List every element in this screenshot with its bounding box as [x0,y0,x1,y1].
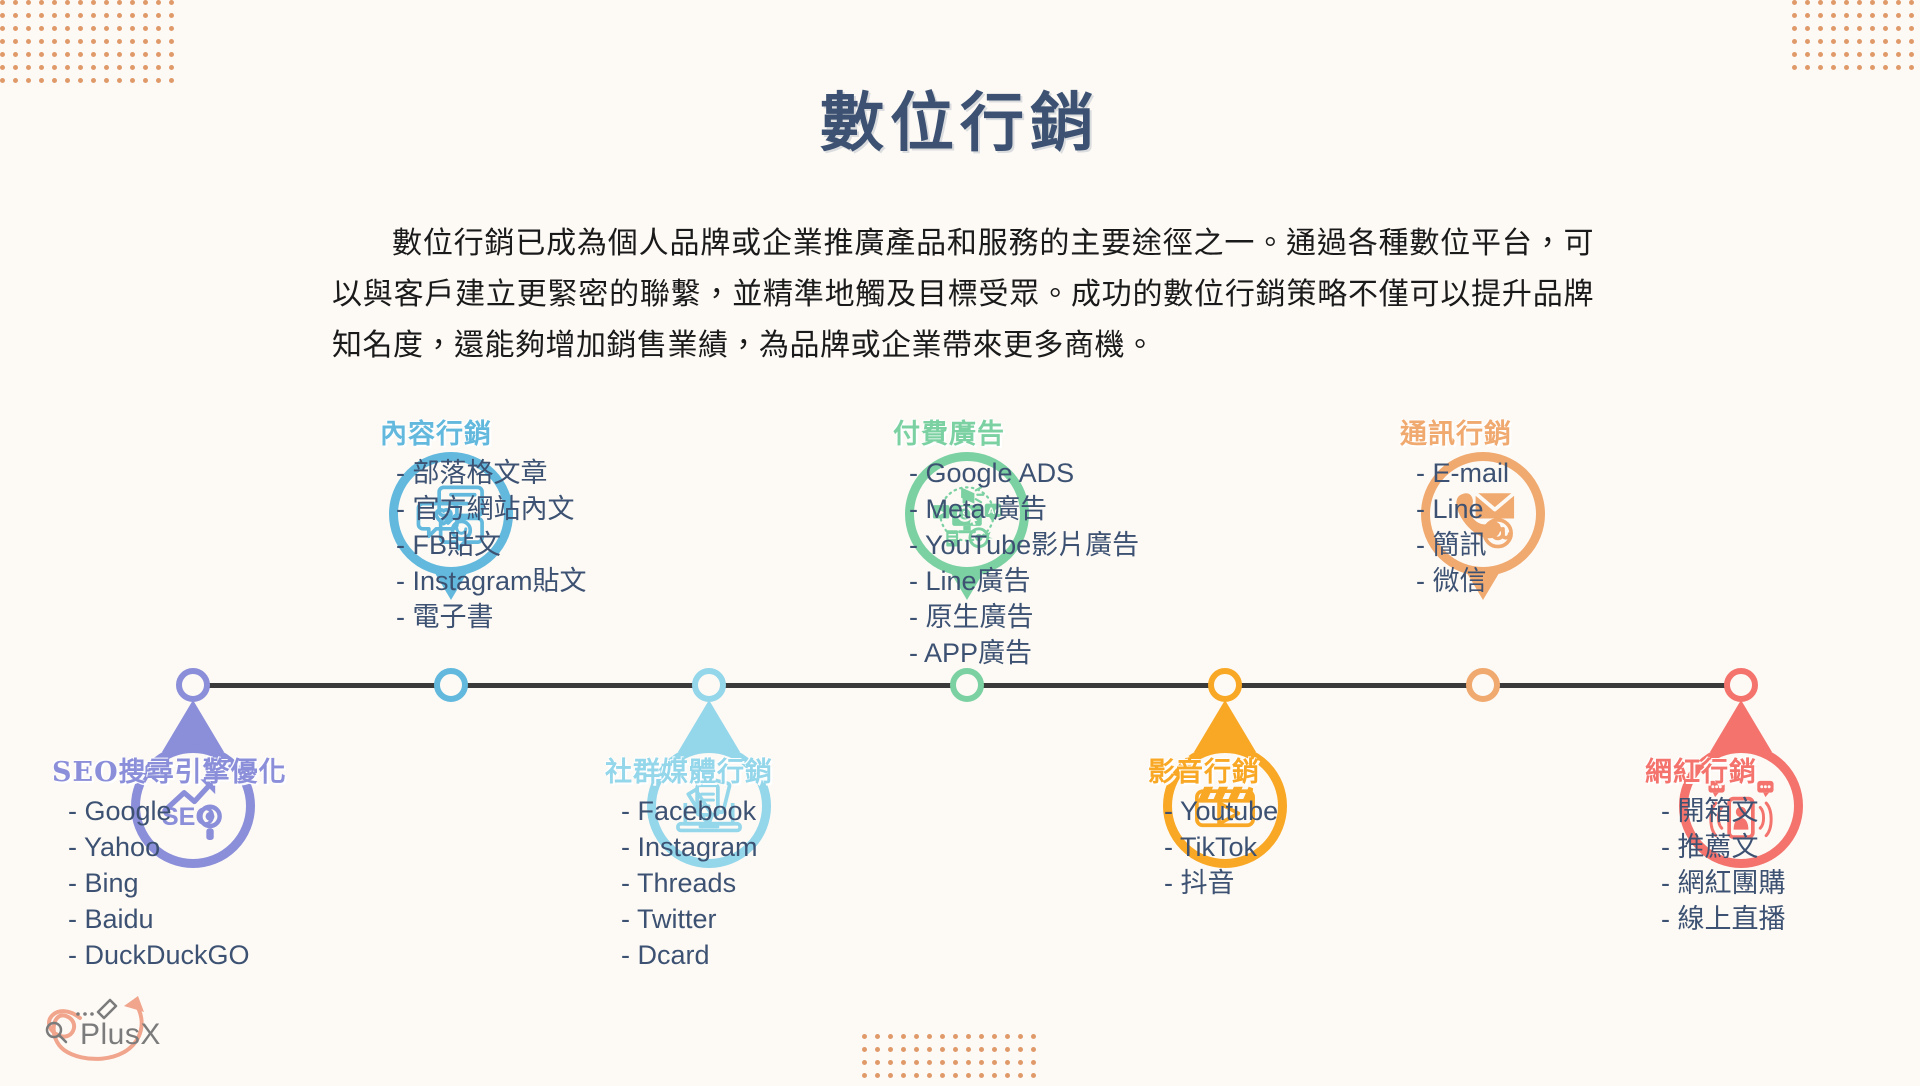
list-item: 微信 [1416,563,1512,599]
timeline-node-paid-ads[interactable] [950,668,984,702]
list-item: Twitter [621,901,773,937]
infographic-canvas: 數位行銷 數位行銷已成為個人品牌或企業推廣產品和服務的主要途徑之一。通過各種數位… [0,0,1920,1080]
list-item: Instagram貼文 [396,563,587,599]
list-item: Line [1416,491,1512,527]
list-item: Youtube [1164,793,1278,829]
block-video: 影音行銷YoutubeTikTok抖音 [1148,750,1278,901]
block-list: GoogleYahooBingBaiduDuckDuckGO [52,793,287,973]
list-item: 抖音 [1164,865,1278,901]
dot-grid-top-right [1792,0,1920,78]
list-item: Instagram [621,829,773,865]
block-heading: 影音行銷 [1148,750,1278,789]
list-item: Threads [621,865,773,901]
list-item: 推薦文 [1661,829,1786,865]
list-item: 部落格文章 [396,455,587,491]
list-item: Google ADS [909,455,1139,491]
list-item: 電子書 [396,599,587,635]
block-list: Google ADSMeta 廣告YouTube影片廣告Line廣告原生廣告AP… [893,455,1139,671]
timeline-node-seo[interactable] [176,668,210,702]
list-item: YouTube影片廣告 [909,527,1139,563]
block-list: E-mailLine簡訊微信 [1400,455,1512,599]
list-item: Line廣告 [909,563,1139,599]
list-item: Meta 廣告 [909,491,1139,527]
list-item: Yahoo [68,829,287,865]
block-messaging: 通訊行銷E-mailLine簡訊微信 [1400,412,1512,599]
block-content: 內容行銷部落格文章官方網站內文FB貼文Instagram貼文電子書 [380,412,587,635]
list-item: 官方網站內文 [396,491,587,527]
timeline-node-content[interactable] [434,668,468,702]
timeline-node-messaging[interactable] [1466,668,1500,702]
list-item: 簡訊 [1416,527,1512,563]
block-list: FacebookInstagramThreadsTwitterDcard [605,793,773,973]
list-item: 原生廣告 [909,599,1139,635]
block-heading: 內容行銷 [380,412,587,451]
list-item: Google [68,793,287,829]
timeline-node-influencer[interactable] [1724,668,1758,702]
block-heading: 付費廣告 [893,412,1139,451]
block-heading: 社群媒體行銷 [605,750,773,789]
list-item: Dcard [621,937,773,973]
block-list: YoutubeTikTok抖音 [1148,793,1278,901]
plusx-logo: PlusX [20,990,190,1070]
block-paid-ads: 付費廣告Google ADSMeta 廣告YouTube影片廣告Line廣告原生… [893,412,1139,671]
block-heading: 網紅行銷 [1645,750,1786,789]
block-list: 部落格文章官方網站內文FB貼文Instagram貼文電子書 [380,455,587,635]
list-item: FB貼文 [396,527,587,563]
list-item: Facebook [621,793,773,829]
list-item: 網紅團購 [1661,865,1786,901]
block-influencer: 網紅行銷開箱文推薦文網紅團購線上直播 [1645,750,1786,937]
timeline-node-social[interactable] [692,668,726,702]
timeline-node-video[interactable] [1208,668,1242,702]
list-item: 線上直播 [1661,901,1786,937]
block-social: 社群媒體行銷FacebookInstagramThreadsTwitterDca… [605,750,773,973]
page-title: 數位行銷 [0,72,1920,164]
list-item: DuckDuckGO [68,937,287,973]
list-item: TikTok [1164,829,1278,865]
list-item: APP廣告 [909,635,1139,671]
dot-grid-bottom-center [862,1034,1044,1086]
list-item: 開箱文 [1661,793,1786,829]
list-item: E-mail [1416,455,1512,491]
block-heading: 通訊行銷 [1400,412,1512,451]
intro-paragraph: 數位行銷已成為個人品牌或企業推廣產品和服務的主要途徑之一。通過各種數位平台，可以… [332,218,1594,371]
list-item: Baidu [68,901,287,937]
logo-text: PlusX [80,1018,161,1052]
block-list: 開箱文推薦文網紅團購線上直播 [1645,793,1786,937]
block-heading: SEO搜尋引擎優化 [52,750,287,789]
block-seo: SEO搜尋引擎優化GoogleYahooBingBaiduDuckDuckGO [52,750,287,973]
list-item: Bing [68,865,287,901]
